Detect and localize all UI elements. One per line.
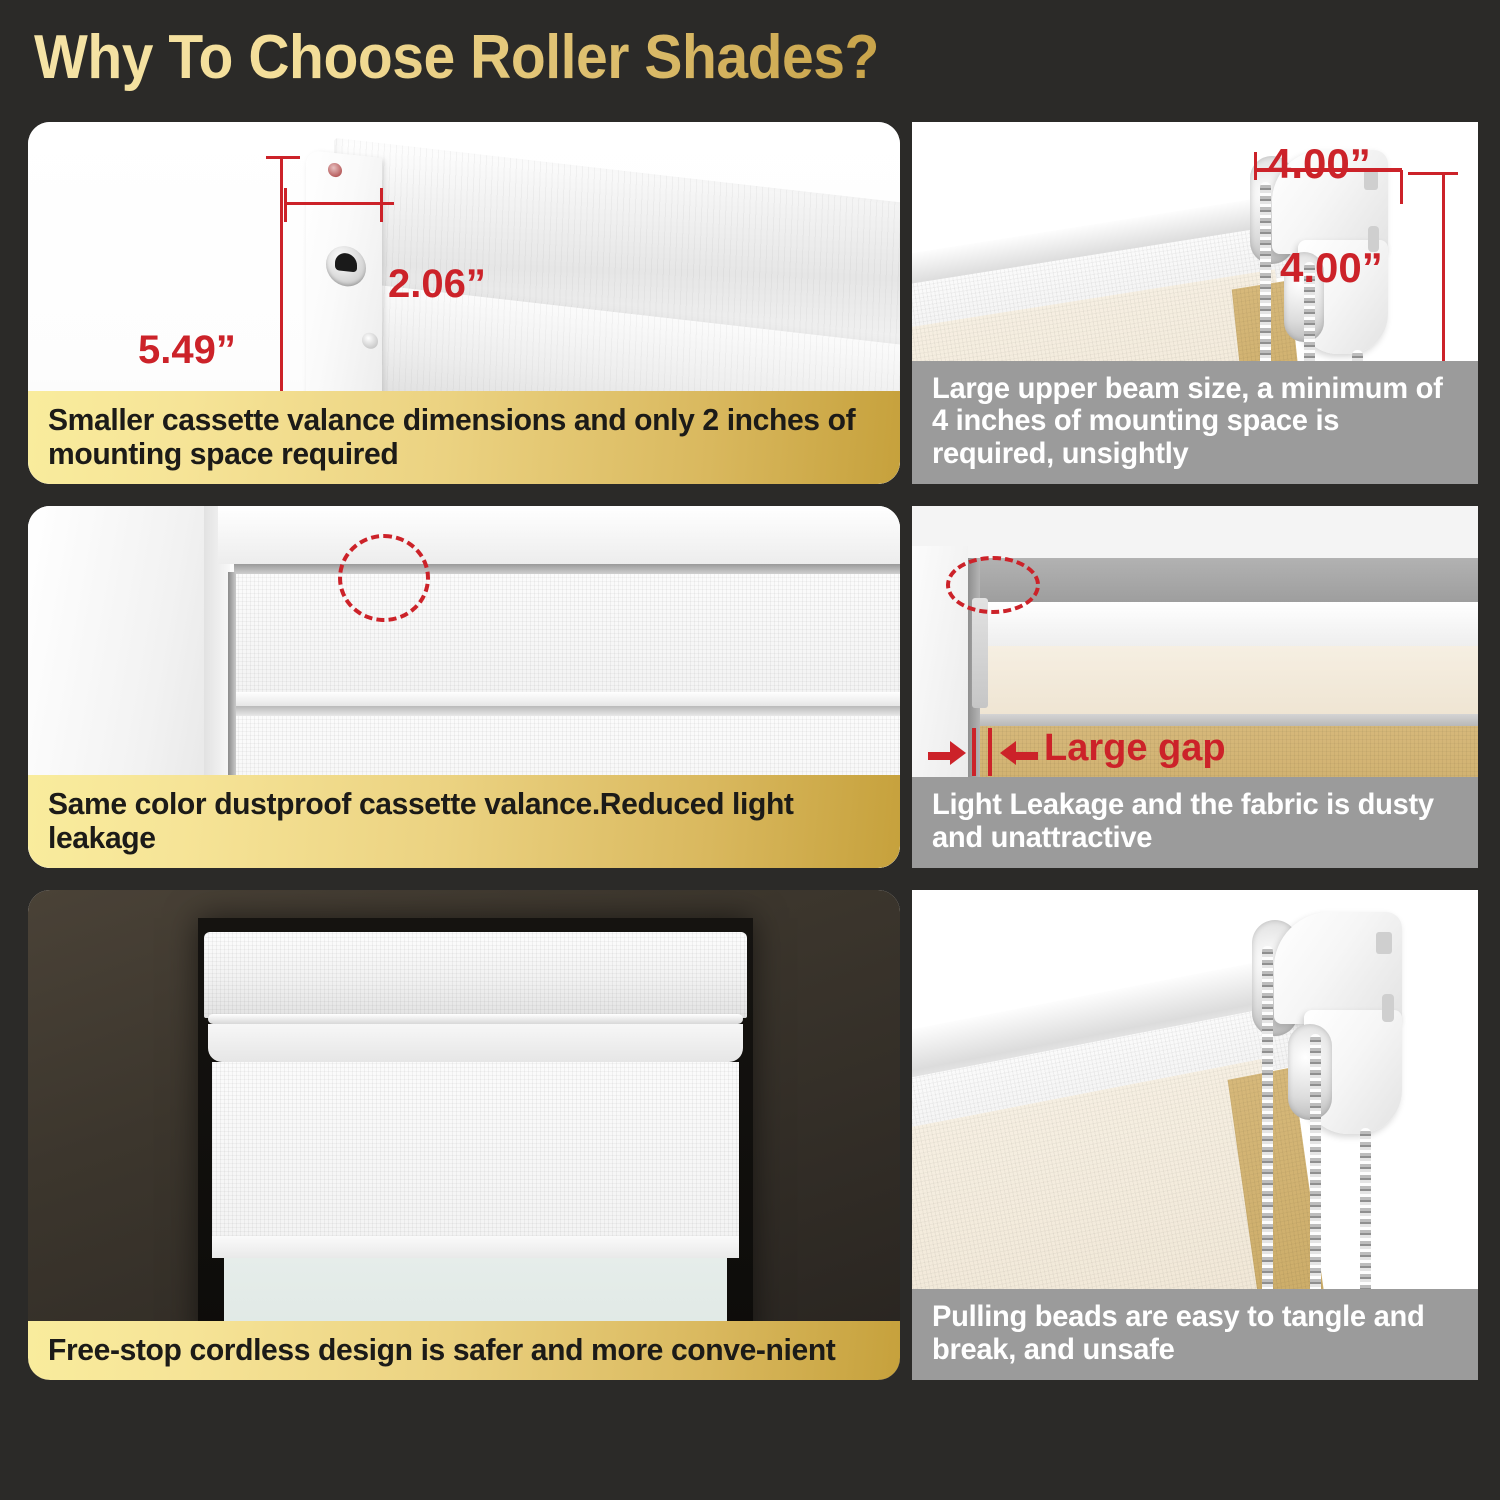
panel-cordless-design: Free-stop cordless design is safer and m… (28, 890, 900, 1380)
panel-1-caption: Smaller cassette valance dimensions and … (28, 391, 900, 484)
panel-4-caption-text: Light Leakage and the fabric is dusty an… (932, 789, 1444, 854)
panel-3-caption: Same color dustproof cassette valance.Re… (28, 775, 900, 868)
panel-smaller-cassette: 5.49” 2.06” Smaller cassette valance dim… (28, 122, 900, 484)
highlight-circle (946, 556, 1040, 614)
panel-1-caption-text: Smaller cassette valance dimensions and … (48, 403, 857, 470)
panel-5-caption: Free-stop cordless design is safer and m… (28, 1321, 900, 1380)
highlight-circle (338, 534, 430, 622)
large-gap-label: Large gap (1044, 727, 1226, 770)
height-dimension-tick-top (266, 156, 300, 159)
panel-6-caption-text: Pulling beads are easy to tangle and bre… (932, 1301, 1444, 1366)
width-dimension-line (284, 202, 394, 205)
height-dimension-label: 5.49” (138, 328, 236, 373)
panel-light-leakage: Large gap Light Leakage and the fabric i… (912, 506, 1478, 868)
beam-height-label: 4.00” (1280, 244, 1383, 292)
page-title: Why To Choose Roller Shades? (34, 22, 879, 93)
panel-5-image (28, 890, 900, 1380)
window (198, 918, 753, 1348)
panel-4-caption: Light Leakage and the fabric is dusty an… (912, 777, 1478, 868)
beam-width-label: 4.00” (1268, 140, 1371, 188)
panel-2-caption-text: Large upper beam size, a minimum of 4 in… (932, 373, 1444, 470)
width-dimension-tick-right (380, 188, 383, 222)
panel-pulling-beads: Pulling beads are easy to tangle and bre… (912, 890, 1478, 1380)
width-dimension-label: 2.06” (388, 262, 486, 307)
panel-6-caption: Pulling beads are easy to tangle and bre… (912, 1289, 1478, 1380)
panel-dustproof-valance: smaller gap Same color dustproof cassett… (28, 506, 900, 868)
panel-large-upper-beam: 4.00” 4.00” Large upper beam size, a min… (912, 122, 1478, 484)
infographic-root: Why To Choose Roller Shades? 5.49” (0, 0, 1500, 1500)
width-dimension-tick-left (284, 188, 287, 222)
panel-5-caption-text: Free-stop cordless design is safer and m… (48, 1333, 857, 1366)
panel-2-caption: Large upper beam size, a minimum of 4 in… (912, 361, 1478, 484)
panel-3-caption-text: Same color dustproof cassette valance.Re… (48, 787, 857, 854)
